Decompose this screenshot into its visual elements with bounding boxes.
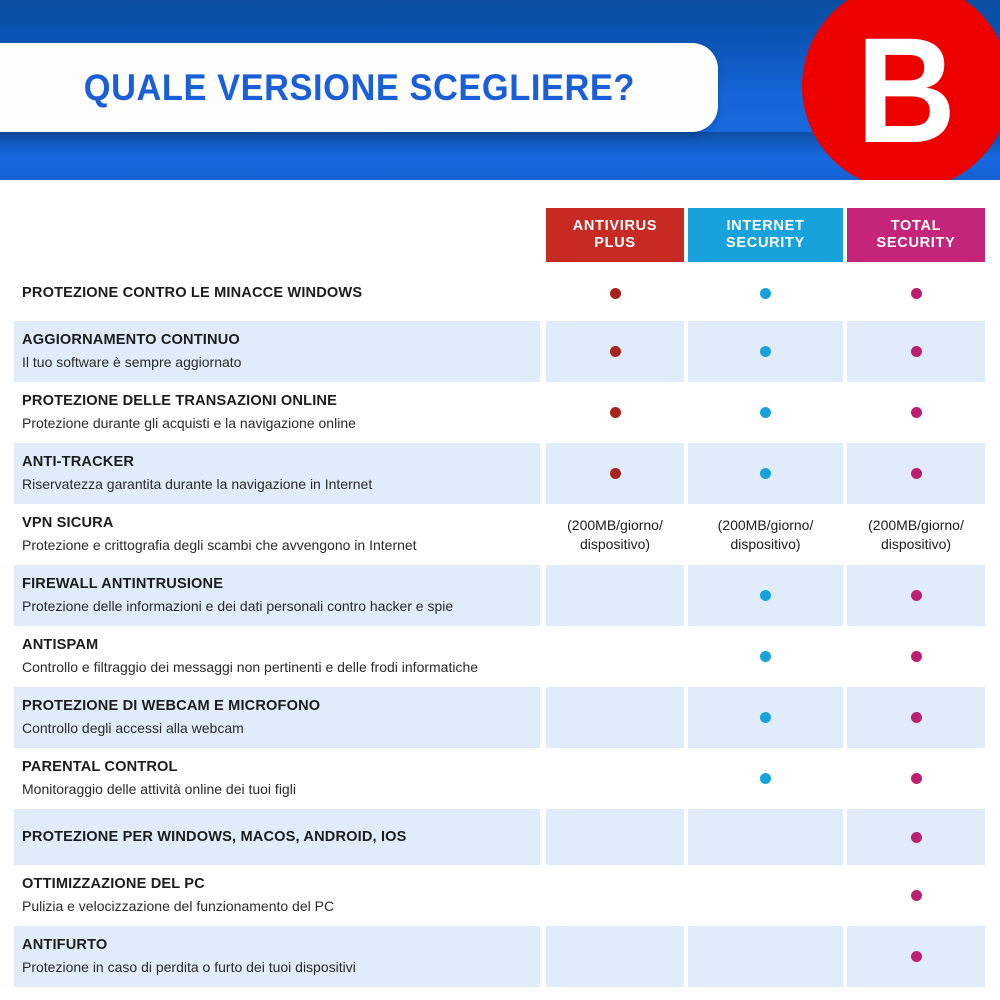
table-row: ANTI-TRACKERRiservatezza garantita duran…: [0, 443, 1000, 504]
feature-availability-cell: [688, 565, 843, 626]
feature-availability-cell: [688, 626, 843, 687]
feature-cell: AGGIORNAMENTO CONTINUOIl tuo software è …: [0, 321, 546, 382]
feature-title: PROTEZIONE CONTRO LE MINACCE WINDOWS: [22, 284, 530, 303]
empty-cell-placeholder: [615, 895, 616, 896]
feature-subtitle: Monitoraggio delle attività online dei t…: [22, 779, 530, 799]
included-dot-icon: [760, 773, 771, 784]
empty-cell-placeholder: [615, 656, 616, 657]
feature-availability-cell: [847, 865, 985, 926]
feature-cell: PARENTAL CONTROLMonitoraggio delle attiv…: [0, 748, 546, 809]
column-header-line2: SECURITY: [726, 235, 805, 252]
feature-title: PROTEZIONE DELLE TRANSAZIONI ONLINE: [22, 392, 530, 411]
table-row-content: FIREWALL ANTINTRUSIONEProtezione delle i…: [0, 565, 1000, 626]
included-dot-icon: [760, 468, 771, 479]
table-row-content: ANTI-TRACKERRiservatezza garantita duran…: [0, 443, 1000, 504]
included-dot-icon: [911, 951, 922, 962]
table-rows: PROTEZIONE CONTRO LE MINACCE WINDOWSAGGI…: [0, 265, 1000, 987]
table-row: ANTIFURTOProtezione in caso di perdita o…: [0, 926, 1000, 987]
feature-availability-cell: [688, 265, 843, 321]
table-row: PROTEZIONE DI WEBCAM E MICROFONOControll…: [0, 687, 1000, 748]
column-header-line1: ANTIVIRUS: [573, 218, 657, 235]
feature-title: PARENTAL CONTROL: [22, 758, 530, 777]
included-dot-icon: [760, 346, 771, 357]
feature-title: FIREWALL ANTINTRUSIONE: [22, 575, 530, 594]
table-row: PROTEZIONE DELLE TRANSAZIONI ONLINEProte…: [0, 382, 1000, 443]
included-dot-icon: [911, 832, 922, 843]
feature-availability-cell: [847, 265, 985, 321]
feature-availability-cell: (200MB/giorno/ dispositivo): [847, 504, 985, 565]
feature-availability-cell: [546, 265, 684, 321]
feature-availability-cell: [546, 382, 684, 443]
table-row-content: OTTIMIZZAZIONE DEL PCPulizia e velocizza…: [0, 865, 1000, 926]
feature-availability-cell: [688, 382, 843, 443]
feature-cell: ANTISPAMControllo e filtraggio dei messa…: [0, 626, 546, 687]
included-dot-icon: [911, 712, 922, 723]
included-dot-icon: [610, 407, 621, 418]
feature-subtitle: Riservatezza garantita durante la naviga…: [22, 474, 530, 494]
feature-cell: FIREWALL ANTINTRUSIONEProtezione delle i…: [0, 565, 546, 626]
table-row-content: PROTEZIONE DELLE TRANSAZIONI ONLINEProte…: [0, 382, 1000, 443]
empty-cell-placeholder: [765, 895, 766, 896]
feature-availability-cell: [847, 321, 985, 382]
feature-availability-cell: [546, 926, 684, 987]
table-row: OTTIMIZZAZIONE DEL PCPulizia e velocizza…: [0, 865, 1000, 926]
cell-value-text: (200MB/giorno/ dispositivo): [847, 512, 985, 558]
feature-availability-cell: [546, 865, 684, 926]
included-dot-icon: [911, 890, 922, 901]
feature-availability-cell: [546, 321, 684, 382]
feature-cell: PROTEZIONE DELLE TRANSAZIONI ONLINEProte…: [0, 382, 546, 443]
table-row-content: ANTISPAMControllo e filtraggio dei messa…: [0, 626, 1000, 687]
table-row-content: ANTIFURTOProtezione in caso di perdita o…: [0, 926, 1000, 987]
empty-cell-placeholder: [615, 595, 616, 596]
table-row-content: PROTEZIONE DI WEBCAM E MICROFONOControll…: [0, 687, 1000, 748]
included-dot-icon: [911, 590, 922, 601]
feature-cell: PROTEZIONE DI WEBCAM E MICROFONOControll…: [0, 687, 546, 748]
feature-availability-cell: [546, 809, 684, 865]
empty-cell-placeholder: [615, 837, 616, 838]
comparison-table: ANTIVIRUS PLUS INTERNET SECURITY TOTAL S…: [0, 180, 1000, 1000]
feature-title: VPN SICURA: [22, 514, 530, 533]
table-row: VPN SICURAProtezione e crittografia degl…: [0, 504, 1000, 565]
included-dot-icon: [911, 346, 922, 357]
column-header-line1: TOTAL: [891, 218, 941, 235]
column-header-antivirus-plus[interactable]: ANTIVIRUS PLUS: [546, 208, 684, 262]
feature-subtitle: Controllo e filtraggio dei messaggi non …: [22, 657, 530, 677]
feature-cell: OTTIMIZZAZIONE DEL PCPulizia e velocizza…: [0, 865, 546, 926]
feature-cell: ANTI-TRACKERRiservatezza garantita duran…: [0, 443, 546, 504]
feature-availability-cell: [688, 321, 843, 382]
feature-availability-cell: [847, 748, 985, 809]
feature-availability-cell: [688, 926, 843, 987]
column-header-line2: SECURITY: [877, 235, 956, 252]
feature-availability-cell: [847, 926, 985, 987]
table-row: ANTISPAMControllo e filtraggio dei messa…: [0, 626, 1000, 687]
included-dot-icon: [760, 407, 771, 418]
feature-cell: PROTEZIONE PER WINDOWS, MACOS, ANDROID, …: [0, 818, 546, 857]
feature-subtitle: Controllo degli accessi alla webcam: [22, 718, 530, 738]
bitdefender-b-letter-icon: B: [856, 15, 956, 165]
feature-availability-cell: [847, 443, 985, 504]
included-dot-icon: [610, 468, 621, 479]
feature-availability-cell: [546, 748, 684, 809]
feature-title: AGGIORNAMENTO CONTINUO: [22, 331, 530, 350]
feature-title: ANTISPAM: [22, 636, 530, 655]
table-row-content: VPN SICURAProtezione e crittografia degl…: [0, 504, 1000, 565]
feature-cell: VPN SICURAProtezione e crittografia degl…: [0, 504, 546, 565]
feature-availability-cell: [688, 865, 843, 926]
included-dot-icon: [911, 468, 922, 479]
feature-subtitle: Protezione in caso di perdita o furto de…: [22, 957, 530, 977]
table-row: AGGIORNAMENTO CONTINUOIl tuo software è …: [0, 321, 1000, 382]
feature-subtitle: Protezione delle informazioni e dei dati…: [22, 596, 530, 616]
included-dot-icon: [911, 773, 922, 784]
feature-availability-cell: [847, 626, 985, 687]
feature-title: PROTEZIONE DI WEBCAM E MICROFONO: [22, 697, 530, 716]
included-dot-icon: [760, 288, 771, 299]
included-dot-icon: [610, 346, 621, 357]
table-column-headers: ANTIVIRUS PLUS INTERNET SECURITY TOTAL S…: [0, 208, 1000, 262]
page-title: QUALE VERSIONE SCEGLIERE?: [83, 67, 634, 109]
feature-cell: PROTEZIONE CONTRO LE MINACCE WINDOWS: [0, 274, 546, 313]
empty-cell-placeholder: [765, 837, 766, 838]
title-plate: QUALE VERSIONE SCEGLIERE?: [0, 43, 718, 132]
included-dot-icon: [760, 651, 771, 662]
feature-availability-cell: [546, 443, 684, 504]
column-header-line2: PLUS: [594, 235, 635, 252]
table-row-content: PROTEZIONE PER WINDOWS, MACOS, ANDROID, …: [0, 809, 1000, 865]
empty-cell-placeholder: [765, 956, 766, 957]
feature-subtitle: Protezione durante gli acquisti e la nav…: [22, 413, 530, 433]
feature-availability-cell: [546, 687, 684, 748]
feature-subtitle: Il tuo software è sempre aggiornato: [22, 352, 530, 372]
feature-availability-cell: [688, 687, 843, 748]
included-dot-icon: [911, 651, 922, 662]
feature-availability-cell: [688, 809, 843, 865]
feature-subtitle: Protezione e crittografia degli scambi c…: [22, 535, 530, 555]
cell-value-text: (200MB/giorno/ dispositivo): [688, 512, 843, 558]
included-dot-icon: [911, 407, 922, 418]
feature-availability-cell: [847, 809, 985, 865]
table-row-content: PARENTAL CONTROLMonitoraggio delle attiv…: [0, 748, 1000, 809]
table-row: FIREWALL ANTINTRUSIONEProtezione delle i…: [0, 565, 1000, 626]
feature-availability-cell: [546, 565, 684, 626]
feature-title: OTTIMIZZAZIONE DEL PC: [22, 875, 530, 894]
included-dot-icon: [911, 288, 922, 299]
table-row: PARENTAL CONTROLMonitoraggio delle attiv…: [0, 748, 1000, 809]
column-header-internet-security[interactable]: INTERNET SECURITY: [688, 208, 843, 262]
table-row-content: PROTEZIONE CONTRO LE MINACCE WINDOWS: [0, 265, 1000, 321]
feature-availability-cell: [847, 687, 985, 748]
empty-cell-placeholder: [615, 956, 616, 957]
column-header-line1: INTERNET: [726, 218, 804, 235]
feature-title: ANTI-TRACKER: [22, 453, 530, 472]
table-row: PROTEZIONE PER WINDOWS, MACOS, ANDROID, …: [0, 809, 1000, 865]
feature-availability-cell: (200MB/giorno/ dispositivo): [688, 504, 843, 565]
empty-cell-placeholder: [615, 778, 616, 779]
included-dot-icon: [760, 712, 771, 723]
feature-availability-cell: [847, 565, 985, 626]
included-dot-icon: [760, 590, 771, 601]
feature-cell: ANTIFURTOProtezione in caso di perdita o…: [0, 926, 546, 987]
page-header-banner: QUALE VERSIONE SCEGLIERE? B: [0, 0, 1000, 180]
feature-availability-cell: [847, 382, 985, 443]
feature-availability-cell: [546, 626, 684, 687]
included-dot-icon: [610, 288, 621, 299]
feature-availability-cell: (200MB/giorno/ dispositivo): [546, 504, 684, 565]
bitdefender-logo: B: [802, 0, 1000, 180]
cell-value-text: (200MB/giorno/ dispositivo): [546, 512, 684, 558]
feature-availability-cell: [688, 748, 843, 809]
feature-title: PROTEZIONE PER WINDOWS, MACOS, ANDROID, …: [22, 828, 530, 847]
table-row-content: AGGIORNAMENTO CONTINUOIl tuo software è …: [0, 321, 1000, 382]
column-header-total-security[interactable]: TOTAL SECURITY: [847, 208, 985, 262]
empty-cell-placeholder: [615, 717, 616, 718]
feature-availability-cell: [688, 443, 843, 504]
feature-subtitle: Pulizia e velocizzazione del funzionamen…: [22, 896, 530, 916]
table-row: PROTEZIONE CONTRO LE MINACCE WINDOWS: [0, 265, 1000, 321]
feature-title: ANTIFURTO: [22, 936, 530, 955]
